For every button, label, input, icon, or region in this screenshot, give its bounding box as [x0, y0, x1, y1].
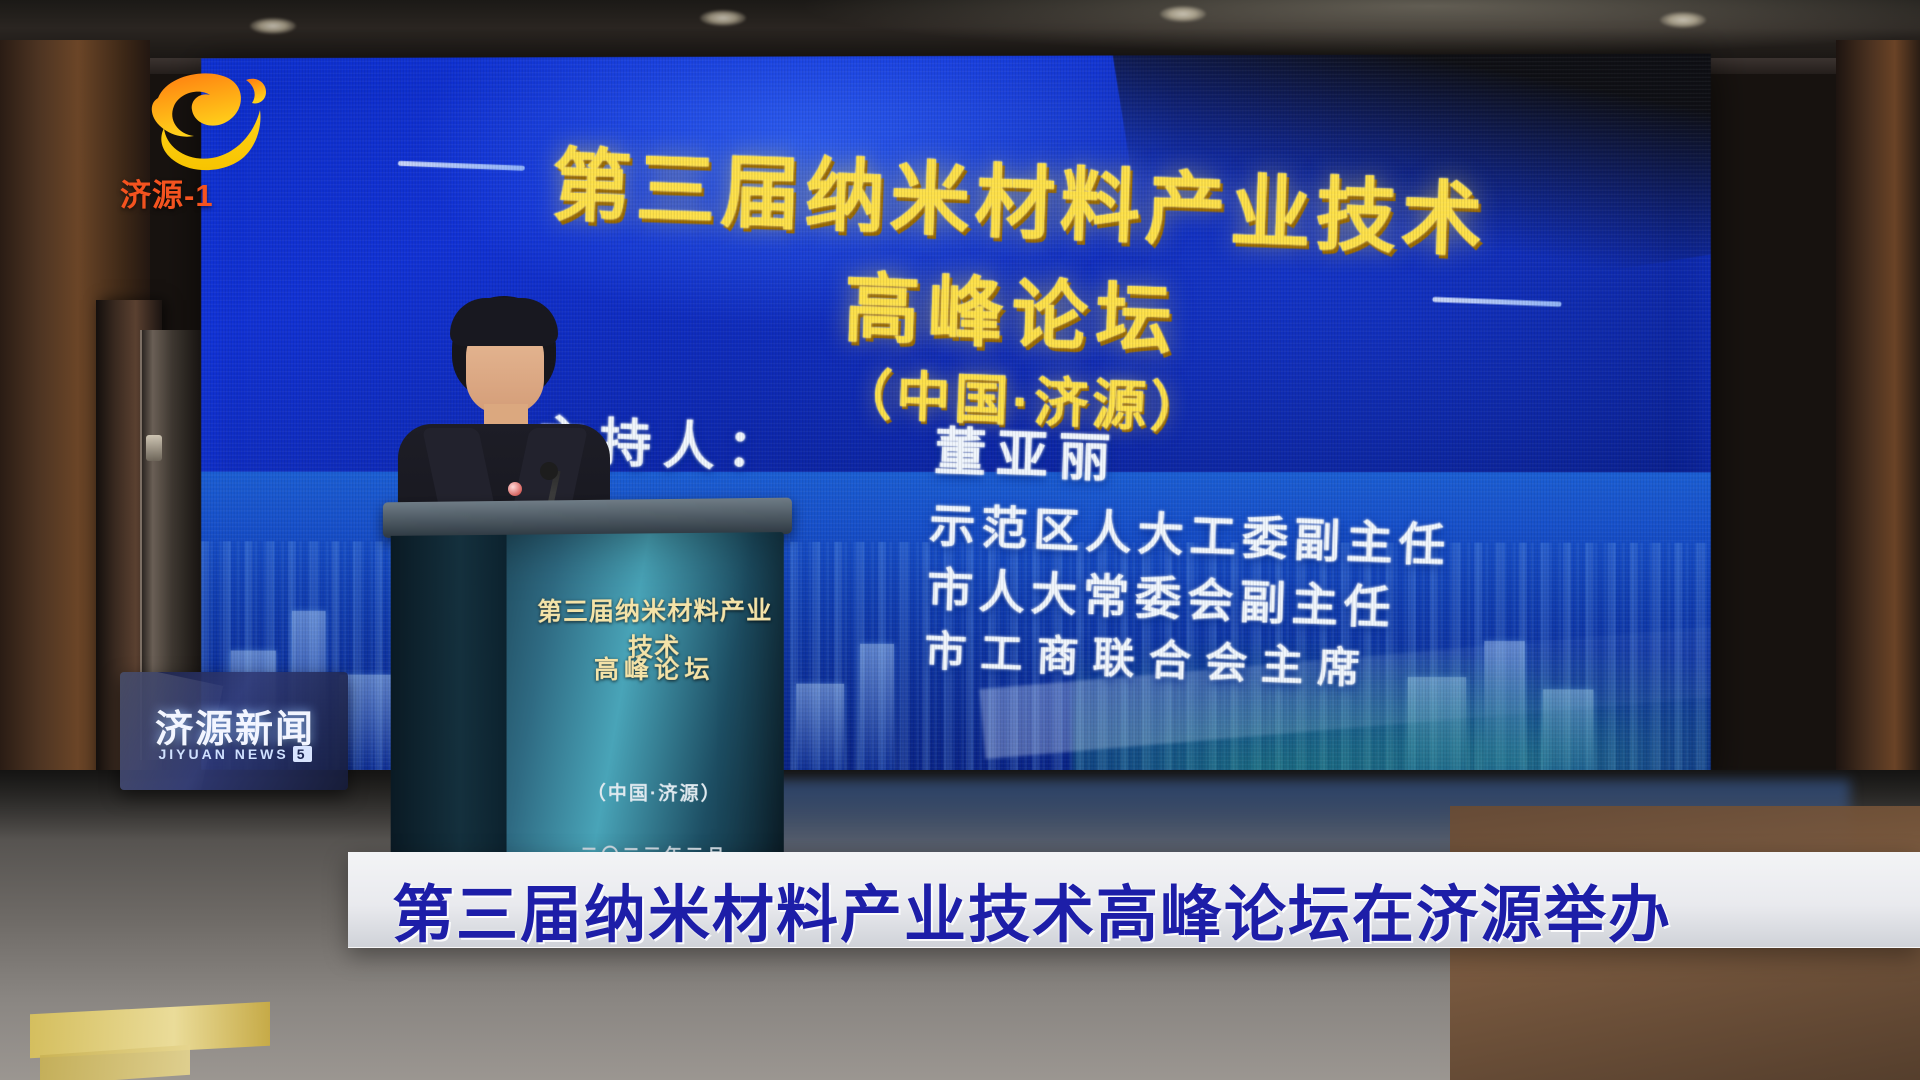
- podium: 第三届纳米材料产业技术 高峰论坛 （中国·济源） 二〇二三年三月: [383, 498, 792, 903]
- chyron-banner: 第三届纳米材料产业技术高峰论坛在济源举办: [348, 852, 1920, 948]
- ceiling-downlight: [700, 10, 746, 26]
- host-name: 董亚丽: [933, 409, 1122, 491]
- ceiling-downlight: [250, 18, 296, 34]
- speaker-hair-front: [450, 298, 558, 346]
- podium-side-panel: [391, 535, 507, 899]
- ceiling-downlight: [1160, 6, 1206, 22]
- jiyuan-swoosh-logo-icon: [122, 62, 272, 174]
- microphone-head: [540, 462, 558, 480]
- podium-text-line-2: 高峰论坛: [530, 649, 779, 686]
- ceiling-downlight: [1660, 12, 1706, 28]
- program-name: 济源新闻: [132, 698, 338, 753]
- conference-title-line-1: 第三届纳米材料产业技术: [550, 121, 1490, 273]
- conference-title-line-2: 高峰论坛: [842, 246, 1182, 369]
- decor-dash-left: [398, 161, 525, 171]
- channel-name: 济源-1: [120, 170, 284, 215]
- door-handle: [146, 435, 162, 461]
- program-logo-bug: 济源新闻 JIYUAN NEWS5: [120, 672, 348, 790]
- program-badge: 5: [293, 746, 312, 762]
- broadcast-frame: 第三届纳米材料产业技术 高峰论坛 （中国·济源） 主持人： 董亚丽 示范区人大工…: [0, 0, 1920, 1080]
- program-name-latin: JIYUAN NEWS5: [132, 746, 338, 762]
- channel-logo: 济源-1: [118, 62, 286, 218]
- program-latin-text: JIYUAN NEWS: [158, 746, 288, 762]
- podium-text-line-3: （中国·济源）: [530, 778, 779, 806]
- decor-dash-right: [1432, 297, 1561, 307]
- chyron-headline: 第三届纳米材料产业技术高峰论坛在济源举办: [392, 864, 1672, 954]
- speaker-lapel-pin: [508, 482, 522, 496]
